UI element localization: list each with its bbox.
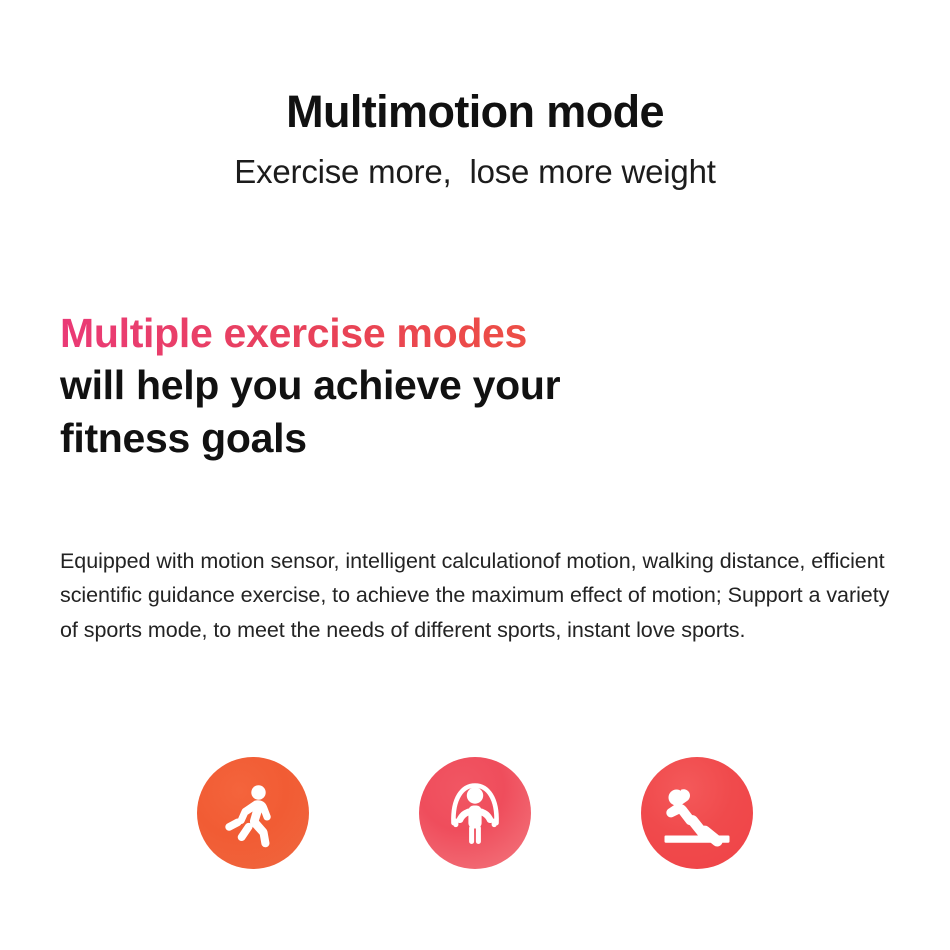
running-icon[interactable] [197, 757, 309, 869]
headline-line-3: fitness goals [60, 412, 890, 464]
page-subtitle: Exercise more, lose more weight [0, 152, 950, 192]
body-paragraph: Equipped with motion sensor, intelligent… [60, 544, 895, 648]
header-block: Multimotion mode Exercise more, lose mor… [0, 86, 950, 191]
headline-block: Multiple exercise modes will help you ac… [60, 307, 890, 464]
jump-rope-icon[interactable] [419, 757, 531, 869]
page-title: Multimotion mode [0, 86, 950, 138]
sport-mode-icon-row [0, 757, 950, 877]
sit-up-icon[interactable] [641, 757, 753, 869]
promo-page: Multimotion mode Exercise more, lose mor… [0, 0, 950, 950]
headline-line-2: will help you achieve your [60, 359, 890, 411]
headline-gradient-line: Multiple exercise modes [60, 307, 890, 359]
